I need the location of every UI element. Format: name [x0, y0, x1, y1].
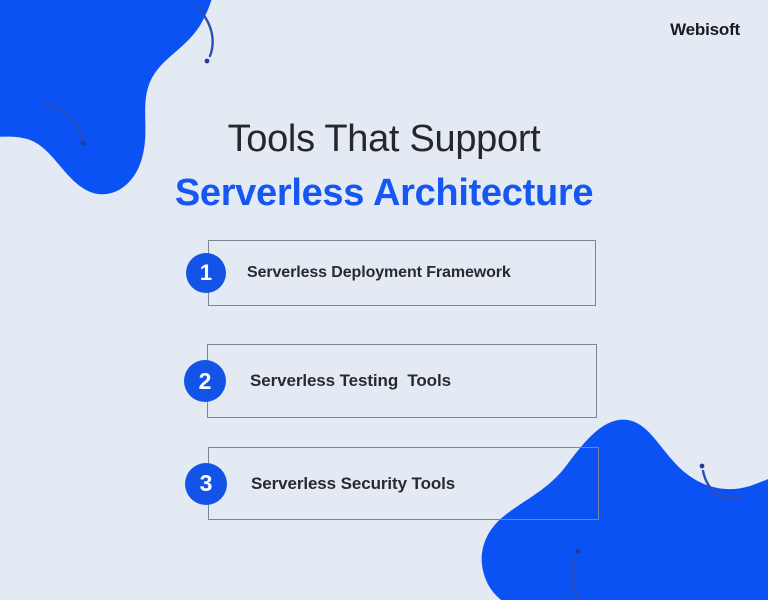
item-label: Serverless Deployment Framework	[247, 264, 511, 282]
infographic-canvas: Webisoft Tools That Support Serverless A…	[0, 0, 768, 600]
page-title-line-2: Serverless Architecture	[0, 170, 768, 218]
list-item: 3 Serverless Security Tools	[208, 447, 599, 520]
item-label: Serverless Testing Tools	[250, 371, 451, 391]
list-item: 1 Serverless Deployment Framework	[208, 240, 596, 306]
item-number-badge: 1	[186, 253, 226, 293]
item-label: Serverless Security Tools	[251, 474, 455, 494]
item-number-badge: 2	[184, 360, 226, 402]
arc-bottom-right-lower-group	[572, 549, 582, 600]
page-title: Tools That Support Serverless Architectu…	[0, 118, 768, 217]
arc-bottom-right-lower-dot-icon	[576, 549, 581, 554]
arc-top-left-upper-icon	[196, 6, 213, 56]
tools-list: 1 Serverless Deployment Framework 2 Serv…	[0, 240, 768, 520]
arc-bottom-right-lower-icon	[572, 556, 582, 600]
page-title-line-1: Tools That Support	[0, 118, 768, 162]
item-number-badge: 3	[185, 463, 227, 505]
arc-top-left-upper-group	[196, 6, 213, 63]
arc-top-left-upper-dot-icon	[205, 59, 210, 64]
brand-logo: Webisoft	[670, 20, 740, 40]
list-item: 2 Serverless Testing Tools	[207, 344, 597, 418]
